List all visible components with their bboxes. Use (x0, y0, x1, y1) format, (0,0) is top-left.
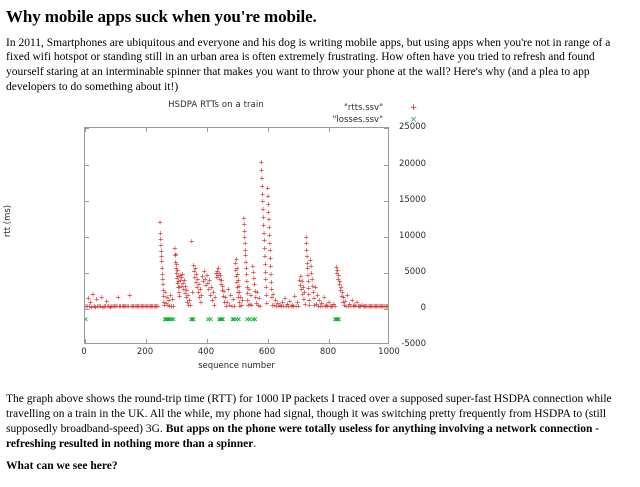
loss-point: × (229, 317, 236, 324)
rtt-point: + (259, 199, 266, 206)
rtt-point: + (96, 304, 103, 311)
rtt-point: + (174, 275, 181, 282)
rtt-point: + (236, 283, 243, 290)
rtt-point: + (262, 277, 269, 284)
question-heading: What can we see here? (6, 460, 634, 472)
rtt-point: + (311, 302, 318, 309)
rtt-point: + (269, 302, 276, 309)
loss-point: × (164, 317, 171, 324)
rtt-point: + (337, 288, 344, 295)
rtt-point: + (259, 191, 266, 198)
rtt-point: + (247, 301, 254, 308)
rtt-point: + (285, 304, 292, 311)
y-tick-mark (85, 165, 89, 166)
y-tick-mark (85, 237, 89, 238)
rtt-point: + (233, 257, 240, 264)
rtt-point: + (267, 264, 274, 271)
rtt-point: + (153, 304, 160, 311)
rtt-point: + (250, 270, 257, 277)
rtt-point: + (178, 283, 185, 290)
rtt-point: + (175, 285, 182, 292)
rtt-point: + (336, 282, 343, 289)
rtt-point: + (134, 304, 141, 311)
rtt-point: + (191, 269, 198, 276)
loss-point: × (170, 317, 177, 324)
rtt-point: + (268, 295, 275, 302)
rtt-point: + (251, 282, 258, 289)
rtt-point: + (167, 292, 174, 299)
rtt-point: + (177, 278, 184, 285)
rtt-point: + (265, 210, 272, 217)
rtt-point: + (121, 304, 128, 311)
rtt-point: + (346, 301, 353, 308)
rtt-point: + (187, 302, 194, 309)
rtt-point: + (216, 276, 223, 283)
rtt-point: + (232, 261, 239, 268)
legend-label-losses: "losses.ssv" (333, 115, 384, 125)
rtt-point: + (266, 233, 273, 240)
legend-entry-rtts: "rtts.ssv" + (333, 102, 419, 114)
rtt-point: + (160, 299, 167, 306)
rtt-point: + (260, 207, 267, 214)
rtt-point: + (260, 223, 267, 230)
rtt-point: + (253, 301, 260, 308)
rtt-point: + (244, 297, 251, 304)
rtt-point: + (133, 304, 140, 311)
loss-point: × (333, 317, 340, 324)
rtt-point: + (266, 225, 273, 232)
rtt-point: + (165, 298, 172, 305)
rtt-point: + (236, 300, 243, 307)
rtt-point: + (235, 278, 242, 285)
rtt-point: + (104, 304, 111, 311)
rtt-point: + (107, 304, 114, 311)
y-tick-label: 5000 (354, 267, 426, 277)
article-page: Why mobile apps suck when you're mobile.… (0, 7, 640, 487)
rtt-point: + (168, 303, 175, 310)
rtt-point: + (230, 296, 237, 303)
intro-paragraph: In 2011, Smartphones are ubiquitous and … (6, 36, 634, 95)
rtt-point: + (239, 298, 246, 305)
rtt-point: + (217, 272, 224, 279)
rtt-scatter-chart: HSDPA RTTs on a train rtt (ms) sequence … (6, 98, 426, 383)
rtt-point: + (117, 304, 124, 311)
page-title: Why mobile apps suck when you're mobile. (6, 7, 634, 27)
rtt-point: + (333, 265, 340, 272)
rtt-point: + (223, 304, 230, 311)
loss-point: × (165, 317, 172, 324)
rtt-point: + (298, 287, 305, 294)
rtt-point: + (160, 288, 167, 295)
rtt-point: + (304, 260, 311, 267)
loss-point: × (161, 317, 168, 324)
rtt-point: + (159, 271, 166, 278)
rtt-point: + (225, 287, 232, 294)
rtt-point: + (301, 289, 308, 296)
loss-point: × (216, 317, 223, 324)
loss-point: × (217, 317, 224, 324)
rtt-point: + (125, 304, 132, 311)
x-tick-label: 400 (198, 347, 214, 357)
rtt-point: + (335, 276, 342, 283)
rtt-point: + (262, 270, 269, 277)
rtt-point: + (242, 253, 249, 260)
rtt-point: + (268, 272, 275, 279)
rtt-point: + (277, 302, 284, 309)
rtt-point: + (160, 293, 167, 300)
loss-point: × (168, 317, 175, 324)
rtt-point: + (321, 295, 328, 302)
rtt-point: + (152, 304, 159, 311)
rtt-point: + (126, 293, 133, 300)
rtt-point: + (171, 246, 178, 253)
rtt-point: + (166, 304, 173, 311)
rtt-point: + (342, 299, 349, 306)
rtt-point: + (300, 284, 307, 291)
rtt-point: + (226, 303, 233, 310)
rtt-point: + (333, 270, 340, 277)
rtt-point: + (193, 271, 200, 278)
cross-marker-icon: × (409, 116, 418, 125)
rtt-point: + (332, 304, 339, 311)
rtt-point: + (218, 278, 225, 285)
rtt-point: + (284, 301, 291, 308)
loss-point: × (207, 317, 214, 324)
legend-entry-losses: "losses.ssv" × (333, 114, 419, 126)
rtt-point: + (255, 303, 262, 310)
rtt-point: + (290, 304, 297, 311)
x-tick-mark (268, 128, 269, 132)
y-tick-mark (85, 128, 89, 129)
x-tick-label: 200 (137, 347, 153, 357)
rtt-point: + (330, 301, 337, 308)
rtt-point: + (185, 303, 192, 310)
rtt-point: + (261, 254, 268, 261)
rtt-point: + (322, 304, 329, 311)
rtt-point: + (312, 285, 319, 292)
rtt-point: + (302, 301, 309, 308)
rtt-point: + (173, 265, 180, 272)
rtt-point: + (238, 303, 245, 310)
rtt-point: + (159, 265, 166, 272)
rtt-point: + (142, 304, 149, 311)
rtt-point: + (169, 296, 176, 303)
chart-legend: "rtts.ssv" + "losses.ssv" × (333, 102, 419, 126)
rtt-point: + (89, 291, 96, 298)
rtt-point: + (257, 304, 264, 311)
rtt-point: + (148, 304, 155, 311)
rtt-point: + (328, 304, 335, 311)
rtt-point: + (181, 278, 188, 285)
x-tick-label: 800 (320, 347, 336, 357)
rtt-point: + (329, 304, 336, 311)
rtt-point: + (243, 266, 250, 273)
rtt-point: + (186, 297, 193, 304)
rtt-point: + (271, 303, 278, 310)
rtt-point: + (91, 304, 98, 311)
rtt-point: + (108, 304, 115, 311)
rtt-point: + (195, 290, 202, 297)
rtt-point: + (158, 249, 165, 256)
rtt-point: + (343, 304, 350, 311)
rtt-point: + (176, 284, 183, 291)
rtt-point: + (116, 304, 123, 311)
rtt-point: + (295, 304, 302, 311)
rtt-point: + (203, 283, 210, 290)
rtt-point: + (158, 259, 165, 266)
rtt-point: + (317, 304, 324, 311)
rtt-point: + (110, 304, 117, 311)
rtt-point: + (242, 241, 249, 248)
rtt-point: + (154, 304, 161, 311)
rtt-point: + (180, 286, 187, 293)
rtt-point: + (272, 297, 279, 304)
rtt-point: + (129, 304, 136, 311)
rtt-point: + (249, 263, 256, 270)
rtt-point: + (175, 289, 182, 296)
rtt-point: + (233, 274, 240, 281)
rtt-point: + (267, 256, 274, 263)
rtt-point: + (344, 292, 351, 299)
rtt-point: + (263, 285, 270, 292)
rtt-point: + (211, 303, 218, 310)
plus-marker-icon: + (409, 104, 418, 113)
rtt-point: + (201, 268, 208, 275)
rtt-point: + (270, 291, 277, 298)
rtt-point: + (216, 270, 223, 277)
rtt-point: + (237, 294, 244, 301)
rtt-point: + (258, 168, 265, 175)
rtt-point: + (299, 291, 306, 298)
rtt-point: + (85, 296, 92, 303)
rtt-point: + (221, 299, 228, 306)
rtt-point: + (157, 231, 164, 238)
rtt-point: + (241, 234, 248, 241)
rtt-point: + (140, 304, 147, 311)
rtt-point: + (313, 301, 320, 308)
rtt-point: + (190, 262, 197, 269)
rtt-point: + (198, 292, 205, 299)
rtt-point: + (244, 291, 251, 298)
rtt-point: + (182, 291, 189, 298)
rtt-point: + (85, 304, 89, 311)
rtt-point: + (227, 292, 234, 299)
rtt-point: + (114, 304, 121, 311)
rtt-point: + (231, 304, 238, 311)
rtt-point: + (283, 304, 290, 311)
rtt-point: + (268, 280, 275, 287)
rtt-point: + (263, 293, 270, 300)
rtt-point: + (243, 272, 250, 279)
rtt-point: + (188, 238, 195, 245)
rtt-point: + (261, 231, 268, 238)
rtt-point: + (233, 280, 240, 287)
rtt-point: + (300, 296, 307, 303)
rtt-point: + (304, 266, 311, 273)
rtt-point: + (101, 304, 108, 311)
rtt-point: + (224, 299, 231, 306)
rtt-point: + (88, 304, 95, 311)
x-tick-mark (207, 339, 208, 343)
rtt-point: + (218, 282, 225, 289)
rtt-point: + (318, 301, 325, 308)
rtt-point: + (303, 241, 310, 248)
rtt-point: + (93, 296, 100, 303)
rtt-point: + (205, 287, 212, 294)
rtt-point: + (160, 282, 167, 289)
rtt-point: + (92, 304, 99, 311)
x-tick-mark (329, 339, 330, 343)
rtt-point: + (296, 278, 303, 285)
rtt-point: + (146, 304, 153, 311)
rtt-point: + (305, 279, 312, 286)
rtt-point: + (305, 286, 312, 293)
rtt-point: + (294, 300, 301, 307)
y-tick-mark (85, 309, 89, 310)
x-tick-mark (146, 339, 147, 343)
rtt-point: + (221, 288, 228, 295)
rtt-point: + (213, 270, 220, 277)
loss-point: × (219, 317, 226, 324)
x-tick-mark (268, 339, 269, 343)
rtt-point: + (204, 272, 211, 279)
loss-point: × (250, 317, 257, 324)
rtt-point: + (191, 275, 198, 282)
rtt-point: + (99, 304, 106, 311)
after-graph-paragraph: The graph above shows the round-trip tim… (6, 392, 634, 451)
rtt-point: + (264, 186, 271, 193)
x-tick-mark (85, 128, 86, 132)
rtt-point: + (235, 295, 242, 302)
rtt-point: + (304, 254, 311, 261)
rtt-point: + (202, 276, 209, 283)
rtt-point: + (200, 278, 207, 285)
after-graph-part2: . (253, 438, 256, 450)
rtt-point: + (289, 303, 296, 310)
loss-point: × (334, 317, 341, 324)
rtt-point: + (85, 304, 91, 311)
rtt-point: + (241, 222, 248, 229)
loss-point: × (252, 317, 259, 324)
rtt-point: + (138, 304, 145, 311)
rtt-point: + (176, 293, 183, 300)
rtt-point: + (258, 160, 265, 167)
rtt-point: + (323, 303, 330, 310)
rtt-point: + (161, 303, 168, 310)
rtt-point: + (242, 247, 249, 254)
rtt-point: + (260, 215, 267, 222)
rtt-point: + (206, 278, 213, 285)
rtt-point: + (304, 272, 311, 279)
rtt-point: + (299, 279, 306, 286)
rtt-point: + (112, 304, 119, 311)
rtt-point: + (265, 217, 272, 224)
rtt-point: + (128, 304, 135, 311)
rtt-point: + (279, 299, 286, 306)
data-points-layer: ++++++++++++++++++++++++++++++++++++++++… (85, 128, 388, 343)
rtt-point: + (122, 304, 129, 311)
rtt-point: + (258, 176, 265, 183)
rtt-point: + (163, 301, 170, 308)
rtt-point: + (170, 304, 177, 311)
rtt-point: + (157, 243, 164, 250)
rtt-point: + (335, 272, 342, 279)
rtt-point: + (275, 304, 282, 311)
rtt-point: + (130, 304, 137, 311)
y-tick-label: 15000 (354, 195, 426, 205)
rtt-point: + (229, 303, 236, 310)
rtt-point: + (179, 272, 186, 279)
x-tick-mark (85, 339, 86, 343)
rtt-point: + (222, 294, 229, 301)
rtt-point: + (256, 296, 263, 303)
rtt-point: + (278, 304, 285, 311)
rtt-point: + (234, 285, 241, 292)
rtt-point: + (241, 228, 248, 235)
rtt-point: + (326, 299, 333, 306)
rtt-point: + (199, 273, 206, 280)
rtt-point: + (273, 304, 280, 311)
rtt-point: + (210, 290, 217, 297)
rtt-point: + (327, 304, 334, 311)
loss-point: × (230, 317, 237, 324)
rtt-point: + (87, 299, 94, 306)
rtt-point: + (143, 304, 150, 311)
rtt-point: + (306, 298, 313, 305)
rtt-point: + (339, 289, 346, 296)
rtt-point: + (245, 303, 252, 310)
rtt-point: + (334, 267, 341, 274)
rtt-point: + (115, 294, 122, 301)
rtt-point: + (248, 303, 255, 310)
loss-point: × (190, 317, 197, 324)
rtt-point: + (219, 283, 226, 290)
rtt-point: + (197, 287, 204, 294)
rtt-point: + (214, 272, 221, 279)
rtt-point: + (266, 241, 273, 248)
rtt-point: + (280, 304, 287, 311)
rtt-point: + (149, 304, 156, 311)
loss-point: × (335, 317, 342, 324)
loss-point: × (205, 317, 212, 324)
rtt-point: + (172, 253, 179, 260)
loss-point: × (233, 317, 240, 324)
rtt-point: + (345, 304, 352, 311)
rtt-point: + (236, 304, 243, 311)
rtt-point: + (173, 262, 180, 269)
rtt-point: + (102, 304, 109, 311)
loss-point: × (244, 317, 251, 324)
rtt-point: + (164, 303, 171, 310)
rtt-point: + (212, 295, 219, 302)
rtt-point: + (158, 254, 165, 261)
rtt-point: + (189, 290, 196, 297)
rtt-point: + (297, 283, 304, 290)
rtt-point: + (173, 270, 180, 277)
rtt-point: + (175, 274, 182, 281)
rtt-point: + (172, 252, 179, 259)
rtt-point: + (308, 270, 315, 277)
rtt-point: + (291, 293, 298, 300)
rtt-point: + (261, 246, 268, 253)
loss-point: × (235, 317, 242, 324)
rtt-point: + (254, 290, 261, 297)
rtt-point: + (182, 283, 189, 290)
loss-point: × (85, 317, 89, 324)
y-tick-label: 10000 (354, 231, 426, 241)
rtt-point: + (196, 282, 203, 289)
rtt-point: + (207, 293, 214, 300)
